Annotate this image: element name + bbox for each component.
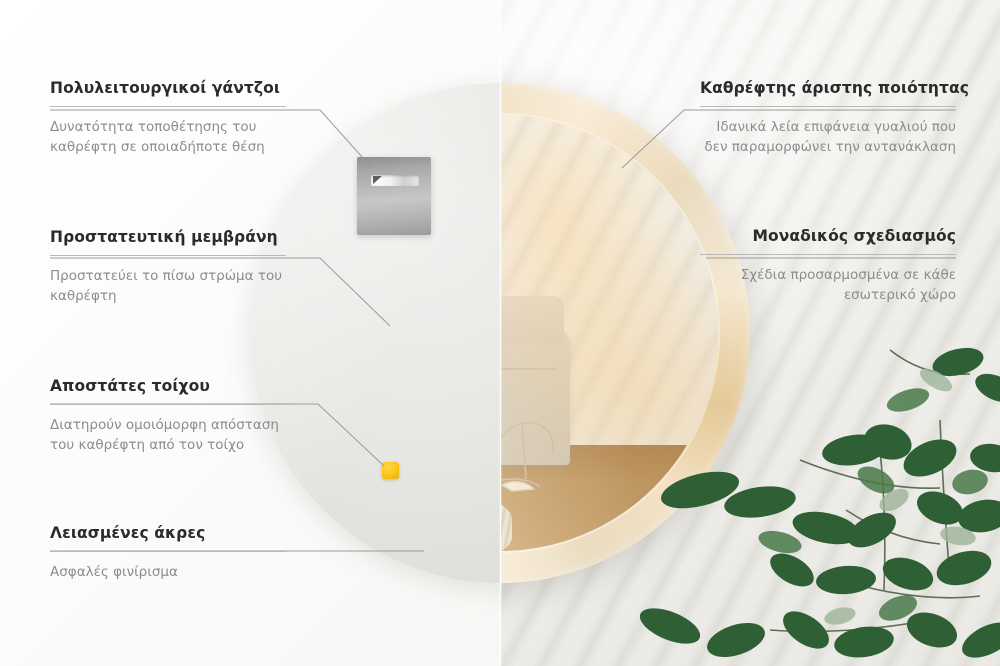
callout-rule [50, 106, 286, 107]
callout-title: Αποστάτες τοίχου [50, 377, 286, 395]
reflection-wire-chair-icon [500, 393, 562, 503]
callout-protective-membrane: Προστατευτική μεμβράνη Προστατεύει το πί… [50, 228, 286, 306]
callout-description: Σχέδια προσαρμοσμένα σε κάθε εσωτερικό χ… [700, 265, 956, 305]
callout-wall-spacers: Αποστάτες τοίχου Διατηρούν ομοιόμορφη απ… [50, 377, 286, 455]
callout-top-quality-mirror: Καθρέφτης άριστης ποιότητας Ιδανικά λεία… [700, 79, 956, 157]
callout-description: Ιδανικά λεία επιφάνεια γυαλιού που δεν π… [700, 117, 956, 157]
callout-unique-design: Μοναδικός σχεδιασμός Σχέδια προσαρμοσμέν… [700, 227, 956, 305]
callout-multifunctional-hooks: Πολυλειτουργικοί γάντζοι Δυνατότητα τοπο… [50, 79, 286, 157]
callout-rule [50, 255, 286, 256]
reflection-wall [500, 115, 718, 551]
callout-title: Προστατευτική μεμβράνη [50, 228, 286, 246]
reflection-sofa-seam [500, 368, 556, 370]
callout-title: Λειασμένες άκρες [50, 524, 286, 542]
marble-frame-ring [500, 83, 750, 583]
metal-hook-plate-icon[interactable] [357, 157, 431, 235]
reflection-sofa [500, 330, 570, 465]
mirror-glass [500, 115, 718, 551]
infographic-canvas: Πολυλειτουργικοί γάντζοι Δυνατότητα τοπο… [0, 0, 1000, 666]
callout-description: Δυνατότητα τοποθέτησης του καθρέφτη σε ο… [50, 117, 286, 157]
callout-title: Μοναδικός σχεδιασμός [700, 227, 956, 245]
callout-rule [700, 254, 956, 255]
callout-rule [50, 551, 286, 552]
callout-rule [50, 404, 286, 405]
callout-smoothed-edges: Λειασμένες άκρες Ασφαλές φινίρισμα [50, 524, 286, 582]
half-divider [500, 0, 501, 666]
yellow-wall-spacer-icon[interactable] [382, 462, 399, 479]
hook-slot-icon [371, 175, 419, 186]
reflection-sofa-back [500, 296, 564, 344]
callout-description: Διατηρούν ομοιόμορφη απόσταση του καθρέφ… [50, 415, 286, 455]
reflection-round-rug [500, 483, 512, 551]
callout-title: Πολυλειτουργικοί γάντζοι [50, 79, 286, 97]
reflection-wooden-floor [500, 445, 718, 551]
callout-description: Προστατεύει το πίσω στρώμα του καθρέφτη [50, 266, 286, 306]
callout-title: Καθρέφτης άριστης ποιότητας [700, 79, 956, 97]
callout-description: Ασφαλές φινίρισμα [50, 562, 286, 582]
callout-rule [700, 106, 956, 107]
